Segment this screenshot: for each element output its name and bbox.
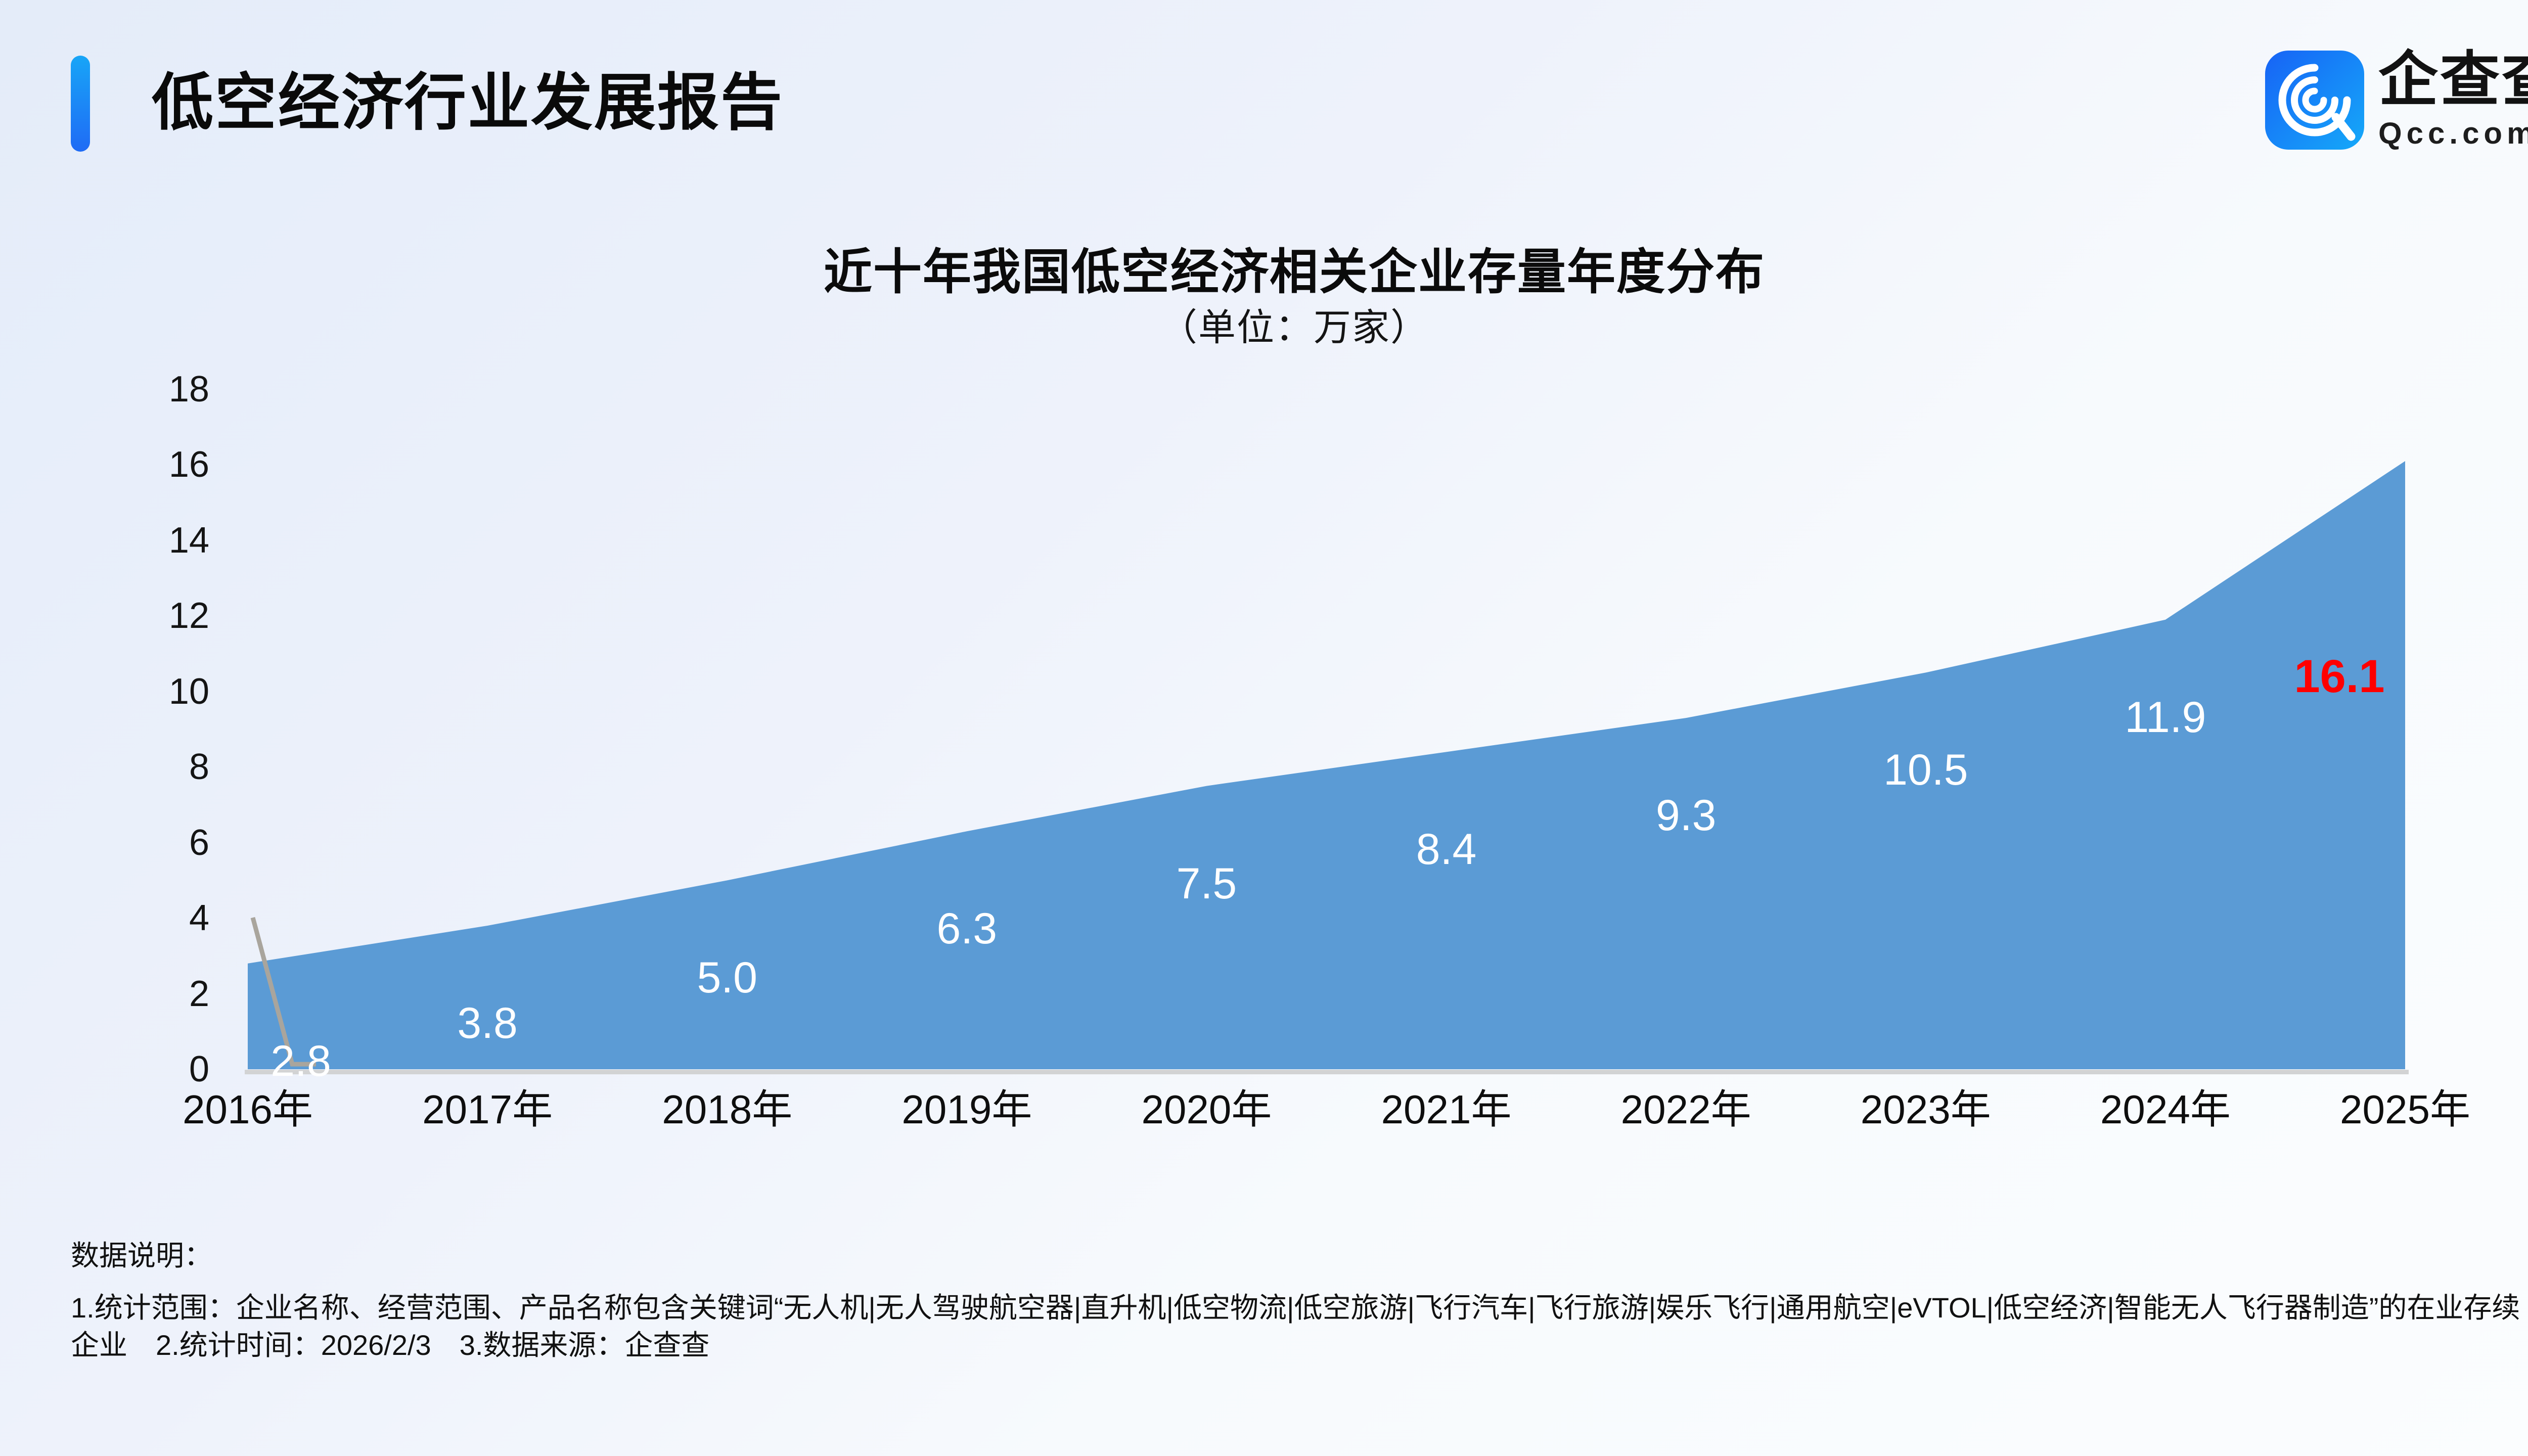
x-tick-label: 2024年 xyxy=(2100,1089,2231,1130)
footnote-heading: 数据说明： xyxy=(71,1241,2528,1271)
brand-name-cn: 企查查 xyxy=(2378,48,2528,112)
x-tick-label: 2019年 xyxy=(901,1089,1032,1130)
x-axis-baseline xyxy=(245,1070,2409,1074)
data-label-highlight: 16.1 xyxy=(2294,653,2384,700)
data-label: 10.5 xyxy=(1883,748,1968,792)
x-tick-label: 2023年 xyxy=(1861,1089,1991,1130)
chart-subtitle: （单位：万家） xyxy=(0,297,2528,351)
data-label: 7.5 xyxy=(1177,862,1237,905)
plot-area xyxy=(248,389,2405,1069)
y-tick-label: 4 xyxy=(7,900,209,936)
data-label: 8.4 xyxy=(1416,828,1477,871)
y-tick-label: 18 xyxy=(7,371,209,407)
data-label: 9.3 xyxy=(1656,794,1717,837)
area-chart: 1816141210864202.82016年3.82017年5.02018年6… xyxy=(0,354,2528,1143)
y-tick-label: 16 xyxy=(7,446,209,483)
x-tick-label: 2021年 xyxy=(1381,1089,1512,1130)
x-tick-label: 2017年 xyxy=(422,1089,553,1130)
footnote-body: 1.统计范围：企业名称、经营范围、产品名称包含关键词“无人机|无人驾驶航空器|直… xyxy=(71,1289,2528,1364)
x-tick-label: 2020年 xyxy=(1141,1089,1272,1130)
x-tick-label: 2022年 xyxy=(1621,1089,1751,1130)
accent-bar xyxy=(71,56,90,152)
data-label: 11.9 xyxy=(2125,696,2206,739)
y-tick-label: 6 xyxy=(7,825,209,861)
qcc-spiral-q-icon xyxy=(2265,51,2364,150)
data-label: 2.8 xyxy=(270,1039,331,1083)
y-tick-label: 0 xyxy=(7,1051,209,1087)
y-tick-label: 8 xyxy=(7,749,209,785)
data-label: 3.8 xyxy=(457,1002,518,1045)
page-title: 低空经济行业发展报告 xyxy=(152,55,784,151)
brand-domain: Qcc.com xyxy=(2378,114,2528,152)
chart-title: 近十年我国低空经济相关企业存量年度分布 xyxy=(0,233,2528,303)
x-tick-label: 2016年 xyxy=(183,1089,313,1130)
data-label: 5.0 xyxy=(697,956,757,999)
page-header: 低空经济行业发展报告 企查查 Qcc.com xyxy=(0,0,2528,187)
x-tick-label: 2025年 xyxy=(2340,1089,2470,1130)
footnote: 数据说明： 1.统计范围：企业名称、经营范围、产品名称包含关键词“无人机|无人驾… xyxy=(71,1241,2528,1364)
data-label: 6.3 xyxy=(937,907,998,950)
y-tick-label: 10 xyxy=(7,673,209,710)
y-tick-label: 2 xyxy=(7,976,209,1012)
y-tick-label: 12 xyxy=(7,598,209,634)
area-series-shape xyxy=(248,461,2405,1069)
brand-logo: 企查查 Qcc.com xyxy=(2265,48,2528,152)
y-tick-label: 14 xyxy=(7,522,209,559)
x-tick-label: 2018年 xyxy=(662,1089,792,1130)
